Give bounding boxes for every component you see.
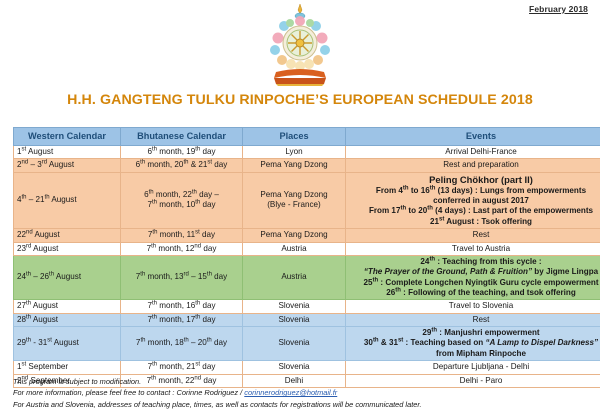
dharma-wheel-emblem [264,2,336,88]
cell-events: Rest [346,229,600,242]
cell-bhutanese-calendar: 6th month, 22th day –7th month, 10th day [121,172,243,228]
cell-places: Slovenia [243,361,346,374]
cell-bhutanese-calendar: 7th month, 16th day [121,300,243,313]
cell-western-calendar: 29th - 31st August [14,327,121,361]
note-modification: This program is subject to modification. [13,376,593,387]
cell-places: Austria [243,255,346,299]
column-header-bhutanese-calendar: Bhutanese Calendar [121,128,243,146]
cell-western-calendar: 1st September [14,361,121,374]
cell-places: Slovenia [243,300,346,313]
schedule-page: February 2018 [0,0,600,407]
cell-events: 29th : Manjushri empowerment30th & 31st … [346,327,600,361]
table-row: 4th – 21th August6th month, 22th day –7t… [14,172,600,228]
cell-bhutanese-calendar: 6th month, 19th day [121,146,243,159]
cell-places: Slovenia [243,313,346,326]
cell-places: Slovenia [243,327,346,361]
cell-western-calendar: 28th August [14,313,121,326]
cell-events: Departure Ljubljana - Delhi [346,361,600,374]
cell-places: Lyon [243,146,346,159]
cell-places: Pema Yang Dzong [243,159,346,172]
cell-western-calendar: 2nd – 3rd August [14,159,121,172]
table-row: 1st September7th month, 21st daySlovenia… [14,361,600,374]
cell-bhutanese-calendar: 7th month, 18th – 20th day [121,327,243,361]
cell-places: Pema Yang Dzong(Blye - France) [243,172,346,228]
table-row: 27th August7th month, 16th daySloveniaTr… [14,300,600,313]
column-header-events: Events [346,128,600,146]
table-row: 22nd August7th month, 11st dayPema Yang … [14,229,600,242]
cell-bhutanese-calendar: 7th month, 11st day [121,229,243,242]
cell-western-calendar: 4th – 21th August [14,172,121,228]
footer-notes: This program is subject to modification.… [13,376,593,410]
table-row: 23rd August7th month, 12nd dayAustriaTra… [14,242,600,255]
table-row: 29th - 31st August7th month, 18th – 20th… [14,327,600,361]
cell-western-calendar: 22nd August [14,229,121,242]
cell-places: Austria [243,242,346,255]
table-row: 28th August7th month, 17th daySloveniaRe… [14,313,600,326]
table-row: 2nd – 3rd August6th month, 20th & 21st d… [14,159,600,172]
table-header-row: Western Calendar Bhutanese Calendar Plac… [14,128,600,146]
emblem-container [0,2,600,88]
note-contact: For more information, please feel free t… [13,387,593,398]
cell-bhutanese-calendar: 7th month, 12nd day [121,242,243,255]
table-row: 1st August6th month, 19th dayLyonArrival… [14,146,600,159]
cell-western-calendar: 23rd August [14,242,121,255]
column-header-places: Places [243,128,346,146]
page-title: H.H. GANGTENG TULKU RINPOCHE’S EUROPEAN … [0,92,600,108]
cell-western-calendar: 27th August [14,300,121,313]
cell-events: Travel to Slovenia [346,300,600,313]
cell-bhutanese-calendar: 6th month, 20th & 21st day [121,159,243,172]
cell-bhutanese-calendar: 7th month, 13rd – 15th day [121,255,243,299]
cell-events: Peling Chökhor (part II)From 4th to 16th… [346,172,600,228]
cell-events: Rest and preparation [346,159,600,172]
cell-events: Travel to Austria [346,242,600,255]
note-contact-prefix: For more information, please feel free t… [13,388,244,397]
cell-events: 24th : Teaching from this cycle :“The Pr… [346,255,600,299]
cell-western-calendar: 24th – 26th August [14,255,121,299]
contact-email-link[interactable]: corinnerodriguez@hotmail.fr [244,388,337,397]
cell-places: Pema Yang Dzong [243,229,346,242]
cell-events: Arrival Delhi-France [346,146,600,159]
column-header-western-calendar: Western Calendar [14,128,121,146]
cell-events: Rest [346,313,600,326]
cell-bhutanese-calendar: 7th month, 17th day [121,313,243,326]
cell-bhutanese-calendar: 7th month, 21st day [121,361,243,374]
cell-western-calendar: 1st August [14,146,121,159]
table-row: 24th – 26th August7th month, 13rd – 15th… [14,255,600,299]
note-addresses: For Austria and Slovenia, addresses of t… [13,399,593,410]
schedule-table: Western Calendar Bhutanese Calendar Plac… [13,127,600,388]
